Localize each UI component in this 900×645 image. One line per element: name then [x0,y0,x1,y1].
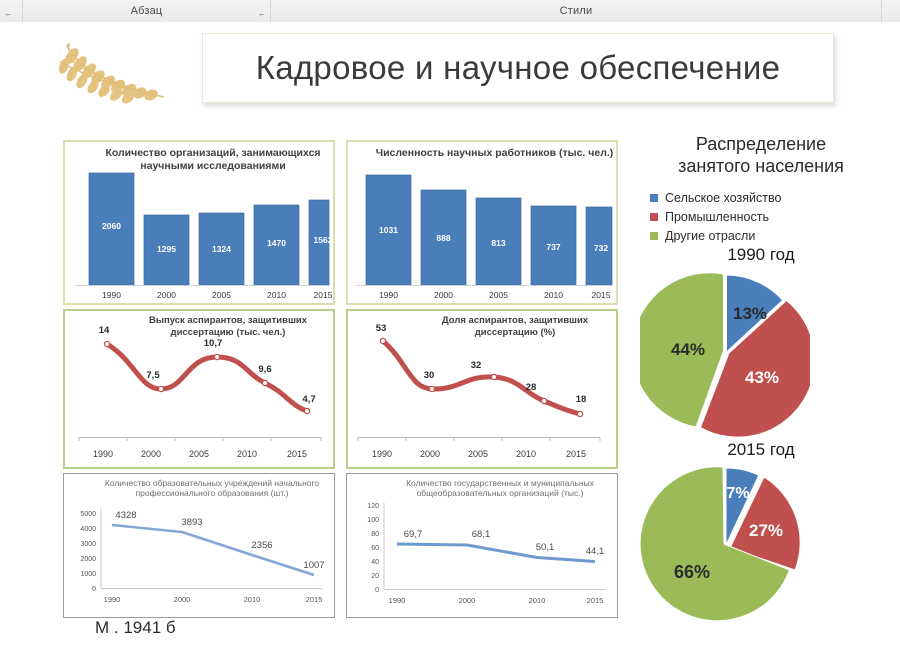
ribbon-left-dialog-launcher[interactable]: ⌐ [6,11,11,19]
svg-text:7%: 7% [726,485,749,502]
legend-item-agriculture[interactable]: Сельское хозяйство [650,188,890,207]
legend-label-industry: Промышленность [665,210,769,224]
svg-text:732: 732 [594,243,608,253]
svg-text:53: 53 [376,323,387,334]
paragraph-dialog-launcher[interactable]: ⌐ [259,11,264,19]
svg-text:2015: 2015 [306,595,323,604]
svg-text:14: 14 [99,325,110,336]
svg-text:2015: 2015 [287,449,307,459]
svg-text:1990: 1990 [104,595,121,604]
svg-text:2015: 2015 [566,449,586,459]
chart-title-researchers: Численность научных работников (тыс. чел… [372,147,617,160]
right-panel-heading: Распределение занятого населения [622,134,900,178]
svg-text:44,1: 44,1 [586,546,605,557]
right-panel-heading-line1: Распределение [622,134,900,156]
ribbon-group-paragraph-label: Абзац [131,5,163,17]
svg-text:2010: 2010 [529,596,546,605]
slide-title-box[interactable]: Кадровое и научное обеспечение [202,33,834,103]
svg-text:2000: 2000 [420,449,440,459]
svg-text:28: 28 [526,382,537,393]
svg-text:5000: 5000 [80,511,96,518]
pie-legend: Сельское хозяйство Промышленность Другие… [650,188,890,245]
svg-text:4,7: 4,7 [302,394,315,405]
svg-text:2010: 2010 [244,595,261,604]
svg-text:13%: 13% [733,304,767,323]
svg-text:4000: 4000 [80,526,96,533]
svg-text:1295: 1295 [157,244,176,254]
svg-text:2000: 2000 [459,596,476,605]
ribbon-group-paragraph[interactable]: Абзац ⌐ [23,0,271,22]
svg-text:40: 40 [371,559,379,566]
pie-chart-2015: 7% 27% 66% [640,460,810,630]
svg-text:100: 100 [367,517,379,524]
svg-text:50,1: 50,1 [536,542,555,553]
svg-text:1990: 1990 [93,449,113,459]
svg-text:7,5: 7,5 [146,370,160,381]
legend-label-agriculture: Сельское хозяйство [665,191,781,205]
wheat-ears-icon [36,40,206,110]
svg-text:2010: 2010 [267,290,286,300]
legend-item-other[interactable]: Другие отрасли [650,226,890,245]
svg-text:80: 80 [371,531,379,538]
svg-text:2015: 2015 [314,290,333,300]
svg-text:60: 60 [371,545,379,552]
chart-title-postgrad-count: Выпуск аспирантов, защитивших диссертаци… [125,315,331,338]
svg-text:32: 32 [471,360,482,371]
chart-frame-researchers[interactable]: Численность научных работников (тыс. чел… [346,140,618,305]
svg-text:44%: 44% [671,340,705,359]
chart-frame-postgrad-share[interactable]: Доля аспирантов, защитивших диссертацию … [346,309,618,469]
svg-text:2010: 2010 [516,449,536,459]
svg-text:2015: 2015 [592,290,611,300]
svg-text:2010: 2010 [544,290,563,300]
svg-text:0: 0 [375,587,379,594]
svg-text:1470: 1470 [267,238,286,248]
svg-text:30: 30 [424,370,435,381]
svg-text:2005: 2005 [468,449,488,459]
svg-text:1562: 1562 [314,235,333,245]
svg-text:1031: 1031 [379,225,398,235]
svg-text:120: 120 [367,503,379,510]
bar-chart-researchers: 1031 888 813 737 732 1990 2000 2005 2010… [348,142,616,303]
svg-text:27%: 27% [749,521,783,540]
svg-text:68,1: 68,1 [472,529,491,540]
svg-text:66%: 66% [674,562,710,582]
chart-frame-organizations[interactable]: Количество организаций, занимающихся нау… [63,140,335,305]
svg-text:9,6: 9,6 [258,364,271,375]
svg-text:1324: 1324 [212,244,231,254]
svg-text:2000: 2000 [157,290,176,300]
svg-text:2005: 2005 [489,290,508,300]
slide-bottom-text-row: М . 1941 б [0,618,900,645]
svg-text:2005: 2005 [212,290,231,300]
svg-text:2060: 2060 [102,221,121,231]
chart-frame-general-schools[interactable]: Количество государственных и муниципальн… [346,473,618,618]
svg-text:1990: 1990 [372,449,392,459]
chart-title-postgrad-share: Доля аспирантов, защитивших диссертацию … [420,315,610,338]
svg-text:737: 737 [546,242,560,252]
svg-text:1007: 1007 [303,560,324,571]
svg-text:69,7: 69,7 [404,529,423,540]
svg-text:4328: 4328 [115,510,136,521]
svg-text:1990: 1990 [389,596,406,605]
page-title: Кадровое и научное обеспечение [256,49,781,87]
legend-swatch-other [650,232,658,240]
svg-text:43%: 43% [745,368,779,387]
svg-text:2000: 2000 [80,556,96,563]
svg-text:2000: 2000 [141,449,161,459]
ribbon-divider-right [881,0,882,22]
pie-caption-1990: 1990 год [622,245,900,265]
chart-title-general-schools: Количество государственных и муниципальн… [389,478,611,499]
svg-text:3893: 3893 [181,517,202,528]
pie-chart-1990: 13% 43% 44% [640,267,810,437]
svg-text:1000: 1000 [80,571,96,578]
chart-frame-postgrad-count[interactable]: Выпуск аспирантов, защитивших диссертаци… [63,309,335,469]
slide-bottom-text: М . 1941 б [95,618,855,638]
legend-swatch-agriculture [650,194,658,202]
svg-text:2000: 2000 [434,290,453,300]
slide-canvas: Кадровое и научное обеспечение Количеств… [0,22,900,623]
chart-frame-vocational-schools[interactable]: Количество образовательных учреждений на… [63,473,335,618]
svg-text:2010: 2010 [237,449,257,459]
svg-text:18: 18 [576,394,587,405]
pie-caption-2015: 2015 год [622,440,900,460]
svg-text:1990: 1990 [379,290,398,300]
svg-text:2356: 2356 [251,540,272,551]
svg-text:1990: 1990 [102,290,121,300]
legend-item-industry[interactable]: Промышленность [650,207,890,226]
svg-text:813: 813 [491,238,505,248]
legend-label-other: Другие отрасли [665,229,755,243]
ribbon-group-styles[interactable]: Стили [271,0,881,22]
svg-text:3000: 3000 [80,541,96,548]
right-panel-heading-line2: занятого населения [622,156,900,178]
svg-text:2015: 2015 [587,596,604,605]
svg-text:888: 888 [436,233,450,243]
ribbon-bar: ⌐ Абзац ⌐ Стили [0,0,900,23]
svg-text:20: 20 [371,573,379,580]
chart-title-vocational-schools: Количество образовательных учреждений на… [98,478,326,499]
svg-text:2005: 2005 [189,449,209,459]
svg-text:2000: 2000 [174,595,191,604]
svg-text:10,7: 10,7 [204,338,223,349]
legend-swatch-industry [650,213,658,221]
svg-text:0: 0 [92,586,96,593]
chart-title-organizations: Количество организаций, занимающихся нау… [93,147,333,173]
ribbon-group-styles-label: Стили [560,5,593,17]
